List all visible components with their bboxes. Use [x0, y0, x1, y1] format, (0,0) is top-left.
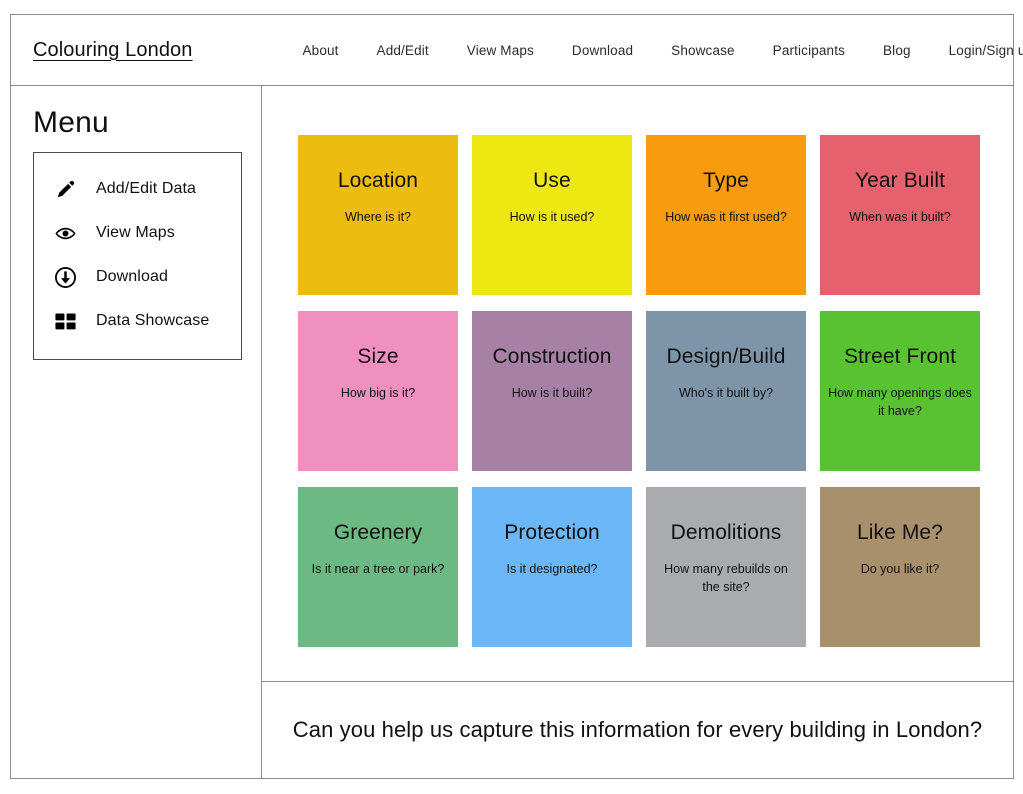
- sidebar-item-download[interactable]: Download: [34, 255, 241, 299]
- tile-subtitle: How is it used?: [502, 208, 603, 226]
- sidebar-item-label: Download: [96, 268, 168, 286]
- grid-icon: [50, 310, 80, 333]
- pencil-icon: [50, 178, 80, 201]
- tile-subtitle: Is it near a tree or park?: [304, 560, 453, 578]
- sidebar: Menu Add/Edit DataView MapsDownloadData …: [11, 86, 262, 778]
- tile-subtitle: How is it built?: [504, 384, 601, 402]
- category-tile-street-front[interactable]: Street FrontHow many openings does it ha…: [820, 311, 980, 471]
- brand-logo-link[interactable]: Colouring London: [33, 39, 193, 62]
- tile-subtitle: How many rebuilds on the site?: [646, 560, 806, 596]
- cta-footer: Can you help us capture this information…: [262, 681, 1013, 778]
- category-tile-design-build[interactable]: Design/BuildWho's it built by?: [646, 311, 806, 471]
- tile-title: Protection: [504, 521, 600, 544]
- tile-title: Size: [357, 345, 398, 368]
- cta-text: Can you help us capture this information…: [293, 715, 982, 746]
- category-tile-size[interactable]: SizeHow big is it?: [298, 311, 458, 471]
- category-tile-demolitions[interactable]: DemolitionsHow many rebuilds on the site…: [646, 487, 806, 647]
- sidebar-item-data-showcase[interactable]: Data Showcase: [34, 299, 241, 343]
- eye-icon: [50, 222, 80, 245]
- nav-view-maps[interactable]: View Maps: [467, 43, 534, 58]
- tile-subtitle: Where is it?: [337, 208, 419, 226]
- body-split: Menu Add/Edit DataView MapsDownloadData …: [11, 86, 1013, 778]
- tile-title: Location: [338, 169, 418, 192]
- nav-about[interactable]: About: [303, 43, 339, 58]
- sidebar-item-label: Add/Edit Data: [96, 180, 196, 198]
- sidebar-item-add-edit-data[interactable]: Add/Edit Data: [34, 167, 241, 211]
- menu-list: Add/Edit DataView MapsDownloadData Showc…: [33, 152, 242, 360]
- tile-title: Demolitions: [671, 521, 782, 544]
- tile-area: LocationWhere is it?UseHow is it used?Ty…: [262, 86, 1013, 681]
- app-frame: Colouring London AboutAdd/EditView MapsD…: [10, 14, 1014, 779]
- category-tile-like-me[interactable]: Like Me?Do you like it?: [820, 487, 980, 647]
- tile-title: Type: [703, 169, 749, 192]
- category-tile-grid: LocationWhere is it?UseHow is it used?Ty…: [298, 135, 1013, 647]
- category-tile-greenery[interactable]: GreeneryIs it near a tree or park?: [298, 487, 458, 647]
- tile-title: Construction: [492, 345, 611, 368]
- category-tile-location[interactable]: LocationWhere is it?: [298, 135, 458, 295]
- tile-subtitle: How many openings does it have?: [820, 384, 980, 420]
- nav-showcase[interactable]: Showcase: [671, 43, 735, 58]
- menu-title: Menu: [33, 106, 261, 140]
- tile-subtitle: Do you like it?: [853, 560, 948, 578]
- download-circle-icon: [50, 266, 80, 289]
- sidebar-item-view-maps[interactable]: View Maps: [34, 211, 241, 255]
- category-tile-protection[interactable]: ProtectionIs it designated?: [472, 487, 632, 647]
- nav-participants[interactable]: Participants: [773, 43, 845, 58]
- sidebar-item-label: Data Showcase: [96, 312, 209, 330]
- tile-subtitle: How big is it?: [333, 384, 423, 402]
- category-tile-use[interactable]: UseHow is it used?: [472, 135, 632, 295]
- tile-subtitle: Is it designated?: [498, 560, 605, 578]
- main-content: LocationWhere is it?UseHow is it used?Ty…: [262, 86, 1013, 778]
- tile-subtitle: When was it built?: [841, 208, 958, 226]
- nav-blog[interactable]: Blog: [883, 43, 911, 58]
- sidebar-item-label: View Maps: [96, 224, 175, 242]
- primary-nav: AboutAdd/EditView MapsDownloadShowcasePa…: [303, 43, 1023, 58]
- category-tile-year-built[interactable]: Year BuiltWhen was it built?: [820, 135, 980, 295]
- category-tile-type[interactable]: TypeHow was it first used?: [646, 135, 806, 295]
- tile-title: Street Front: [844, 345, 956, 368]
- tile-title: Greenery: [334, 521, 422, 544]
- tile-title: Like Me?: [857, 521, 943, 544]
- tile-title: Year Built: [855, 169, 945, 192]
- site-header: Colouring London AboutAdd/EditView MapsD…: [11, 15, 1013, 86]
- tile-title: Use: [533, 169, 571, 192]
- category-tile-construction[interactable]: ConstructionHow is it built?: [472, 311, 632, 471]
- tile-subtitle: Who's it built by?: [671, 384, 781, 402]
- tile-subtitle: How was it first used?: [657, 208, 795, 226]
- nav-add-edit[interactable]: Add/Edit: [377, 43, 429, 58]
- nav-download[interactable]: Download: [572, 43, 633, 58]
- nav-login-signup[interactable]: Login/Sign up: [949, 43, 1023, 58]
- tile-title: Design/Build: [666, 345, 785, 368]
